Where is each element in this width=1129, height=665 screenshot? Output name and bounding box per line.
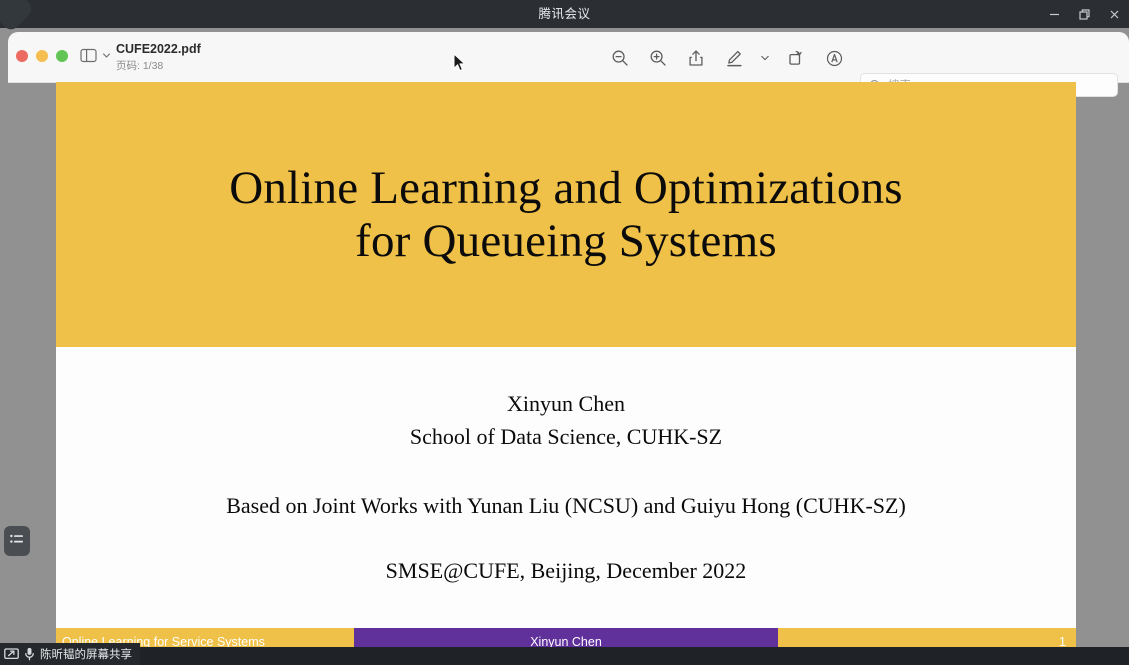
traffic-light-minimize[interactable] <box>36 50 48 62</box>
slide-title-line-1: Online Learning and Optimizations <box>229 162 903 215</box>
slide-affiliation: School of Data Science, CUHK-SZ <box>410 420 722 453</box>
list-panel-icon <box>9 532 25 551</box>
minimize-icon[interactable] <box>1039 0 1069 28</box>
meeting-bottom-bar <box>0 647 1129 665</box>
page-indicator: 页码: 1/38 <box>116 60 201 73</box>
app-title: 腾讯会议 <box>0 0 1129 28</box>
window-titlebar: 腾讯会议 <box>0 0 1129 28</box>
slide-joint-works: Based on Joint Works with Yunan Liu (NCS… <box>226 489 906 522</box>
pdf-tool-group <box>603 40 851 76</box>
document-title-block: CUFE2022.pdf 页码: 1/38 <box>116 42 201 73</box>
slide-author: Xinyun Chen <box>507 387 625 420</box>
traffic-light-close[interactable] <box>16 50 28 62</box>
tencent-meeting-window: 腾讯会议 <box>0 0 1129 665</box>
slide-title-band: Online Learning and Optimizations for Qu… <box>56 82 1076 347</box>
traffic-light-zoom[interactable] <box>56 50 68 62</box>
screen-share-indicator[interactable]: 陈昕韫的屏幕共享 <box>0 643 140 665</box>
pen-markup-icon[interactable] <box>717 41 751 75</box>
zoom-in-icon[interactable] <box>641 41 675 75</box>
circle-a-icon[interactable] <box>817 41 851 75</box>
slide-venue: SMSE@CUFE, Beijing, December 2022 <box>386 554 747 587</box>
close-icon[interactable] <box>1099 0 1129 28</box>
meeting-panel-toggle-button[interactable] <box>4 526 30 556</box>
share-icon[interactable] <box>679 41 713 75</box>
shared-screen-area: CUFE2022.pdf 页码: 1/38 <box>0 28 1129 665</box>
rotate-icon[interactable] <box>779 41 813 75</box>
zoom-out-icon[interactable] <box>603 41 637 75</box>
screen-share-label: 陈昕韫的屏幕共享 <box>40 646 132 662</box>
microphone-icon <box>24 647 35 661</box>
slide-title-line-2: for Queueing Systems <box>355 215 777 268</box>
screen-share-icon <box>4 648 19 661</box>
sidebar-toggle-button[interactable] <box>80 48 111 63</box>
traffic-lights <box>16 50 68 62</box>
document-name: CUFE2022.pdf <box>116 42 201 58</box>
sidebar-panel-icon <box>80 48 97 63</box>
window-controls <box>1039 0 1129 28</box>
markup-options-chevron-down-icon[interactable] <box>755 41 775 75</box>
chevron-down-icon <box>102 51 111 60</box>
slide-body: Xinyun Chen School of Data Science, CUHK… <box>56 347 1076 628</box>
restore-icon[interactable] <box>1069 0 1099 28</box>
pdf-slide-page: Online Learning and Optimizations for Qu… <box>56 82 1076 655</box>
